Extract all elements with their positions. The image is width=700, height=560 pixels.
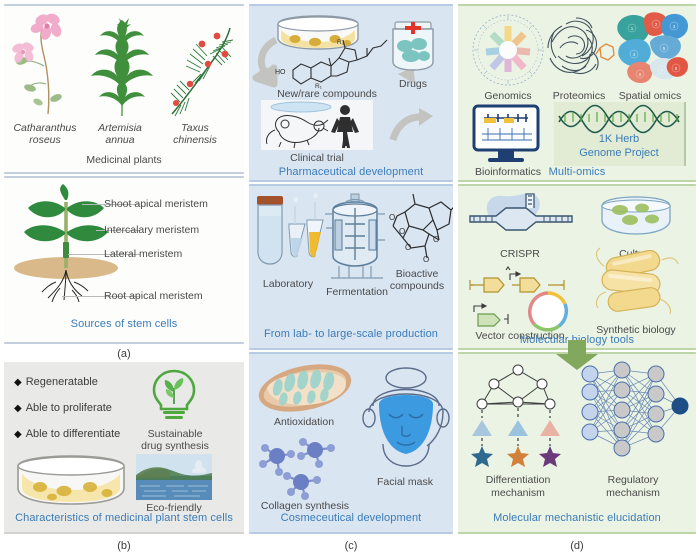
gene-arrow-left <box>484 278 504 292</box>
bacteria-icon <box>592 248 680 318</box>
plasmid-vector-icon <box>464 266 576 332</box>
panel-multi-omics: Genomics <box>458 4 696 182</box>
column-right: Genomics <box>458 0 696 560</box>
nn-output-node <box>672 398 688 414</box>
panel-molecular-biology-tools: CRISPR Culture <box>458 184 696 350</box>
mouse-human-trial-icon <box>261 100 373 150</box>
panel-letter-a: (a) <box>4 348 244 360</box>
pharmaceutical-caption: Pharmaceutical development <box>249 166 453 178</box>
column-left: Catharanthusroseus Artemisiaannua Taxusc… <box>4 0 244 560</box>
meristem-label-2: Lateral meristem <box>104 248 244 260</box>
taxus-illustration <box>171 28 233 116</box>
molecule-cluster-icon <box>253 434 357 504</box>
medicinal-plants-illustration <box>4 6 244 131</box>
guide-rna <box>526 194 534 208</box>
figure-root: Catharanthusroseus Artemisiaannua Taxusc… <box>0 0 700 560</box>
differentiation-tree-icon <box>466 358 570 470</box>
chem-atom-o2: O <box>399 227 405 236</box>
characteristics-caption: Characteristics of medicinal plant stem … <box>4 512 244 524</box>
return-arrow-icon <box>385 102 441 148</box>
artemisia-illustration <box>91 18 153 116</box>
characteristic-row-0: ◆Regeneratable <box>14 376 98 388</box>
chem-atom-o3: O <box>405 243 411 252</box>
protein-structure-icon <box>542 12 616 86</box>
panel-letter-c: (c) <box>249 540 453 552</box>
culture-dish-icon <box>598 194 674 240</box>
down-arrow-green-icon <box>554 340 600 370</box>
plant-name-1: Artemisiaannua <box>86 122 154 146</box>
panel-mechanistic-elucidation: Differentiationmechanism <box>458 352 696 534</box>
panel-stem-cell-sources: Shoot apical meristem Intercalary merist… <box>4 176 244 344</box>
panel-medicinal-plants: Catharanthusroseus Artemisiaannua Taxusc… <box>4 4 244 174</box>
characteristic-label-2: Able to differentiate <box>26 428 121 440</box>
differentiated-stars <box>471 446 561 467</box>
human-figure <box>331 105 359 148</box>
regulatory-mechanism-label: Regulatorymechanism <box>576 474 690 500</box>
test-tubes-icon <box>255 194 327 276</box>
eco-landscape-icon <box>136 454 212 500</box>
production-caption: From lab- to large-scale production <box>249 328 453 340</box>
dna-helix-icon <box>557 106 683 128</box>
cell-triangles <box>472 420 560 436</box>
cosmeceutical-caption: Cosmeceutical development <box>249 512 453 524</box>
meristem-label-0: Shoot apical meristem <box>104 198 244 210</box>
facial-mask-icon <box>361 366 451 470</box>
taxus-berries <box>173 33 228 106</box>
mechanism-caption: Molecular mechanistic elucidation <box>458 512 696 524</box>
multi-omics-caption: Multi-omics <box>458 166 696 178</box>
neural-network-icon <box>578 360 688 464</box>
network-nodes <box>477 365 555 409</box>
plant-name-0: Catharanthusroseus <box>6 122 84 146</box>
meristem-label-1: Intercalary meristem <box>104 224 244 236</box>
lateral-meristem-marker <box>63 242 69 258</box>
herb-genome-project-label: 1K HerbGenome Project <box>554 132 684 160</box>
characteristic-row-2: ◆Able to differentiate <box>14 428 120 440</box>
collagen-synthesis-label: Collagen synthesis <box>249 500 361 512</box>
crispr-label: CRISPR <box>472 248 568 260</box>
nn-edges <box>590 370 680 448</box>
differentiation-mechanism-label: Differentiationmechanism <box>460 474 576 500</box>
drugs-label: Drugs <box>375 78 451 90</box>
antioxidation-label: Antioxidation <box>251 416 357 428</box>
clinical-trial-label: Clinical trial <box>261 152 373 164</box>
panel-pharmaceutical-development: HO R₁ R₂ New/rare compounds Drugs <box>249 4 453 182</box>
nn-hidden-layer-1 <box>614 362 630 456</box>
mitochondrion-icon <box>255 360 355 414</box>
gene-arrow-right <box>520 278 540 292</box>
spatial-tissue-map-icon: 123 456 78 <box>610 10 690 88</box>
artemisinin-structure-icon: O O O O O <box>383 192 453 268</box>
sustainable-drug-synthesis-label: Sustainabledrug synthesis <box>126 428 224 452</box>
promoter-arrow <box>506 267 520 280</box>
chem-label-r2: R₂ <box>337 39 345 46</box>
panel-letter-b: (b) <box>4 540 244 552</box>
panel-letter-d: (d) <box>458 540 696 552</box>
characteristic-label-1: Able to proliferate <box>26 402 112 414</box>
chem-label-ho: HO <box>275 69 286 76</box>
chem-atom-o4: O <box>423 255 429 264</box>
bioactive-compounds-label: Bioactivecompounds <box>381 268 453 292</box>
crispr-cas9-icon <box>468 190 574 246</box>
characteristic-row-1: ◆Able to proliferate <box>14 402 112 414</box>
flower-pink-1 <box>29 12 63 42</box>
stem-cell-sources-caption: Sources of stem cells <box>4 318 244 330</box>
drug-jar-icon <box>385 18 441 74</box>
chem-atom-o1: O <box>389 213 395 222</box>
panel-stem-cell-characteristics: ◆Regeneratable ◆Able to proliferate ◆Abl… <box>4 362 244 534</box>
panel-cosmeceutical-development: Antioxidation Collagen synthesis <box>249 352 453 534</box>
meristem-label-3: Root apical meristem <box>104 290 244 302</box>
medicinal-plants-caption: Medicinal plants <box>4 154 244 166</box>
mouse-illustration <box>266 115 328 148</box>
bullet-diamond-icon: ◆ <box>14 377 22 388</box>
computer-monitor-icon <box>470 104 544 166</box>
lightbulb-plant-icon <box>144 368 204 424</box>
characteristic-label-0: Regeneratable <box>26 376 98 388</box>
chem-atom-o5: O <box>433 235 439 244</box>
column-middle: HO R₁ R₂ New/rare compounds Drugs <box>249 0 453 560</box>
nn-hidden-layer-2 <box>648 366 664 442</box>
chart-bar <box>484 118 496 123</box>
plant-name-2: Taxuschinensis <box>156 122 234 146</box>
bioreactor-icon <box>325 194 387 282</box>
panel-large-scale-production: Laboratory Fermentation <box>249 184 453 350</box>
facial-mask-label: Facial mask <box>357 476 453 488</box>
catharanthus-illustration <box>11 12 63 114</box>
circular-genome-icon <box>470 12 546 88</box>
nn-input-layer <box>582 366 598 440</box>
molecule-nodes-small <box>259 438 335 500</box>
spatial-omics-label: Spatial omics <box>606 90 694 102</box>
bullet-diamond-icon: ◆ <box>14 429 22 440</box>
bullet-diamond-icon: ◆ <box>14 403 22 414</box>
petri-dish-cells-icon <box>12 454 130 510</box>
